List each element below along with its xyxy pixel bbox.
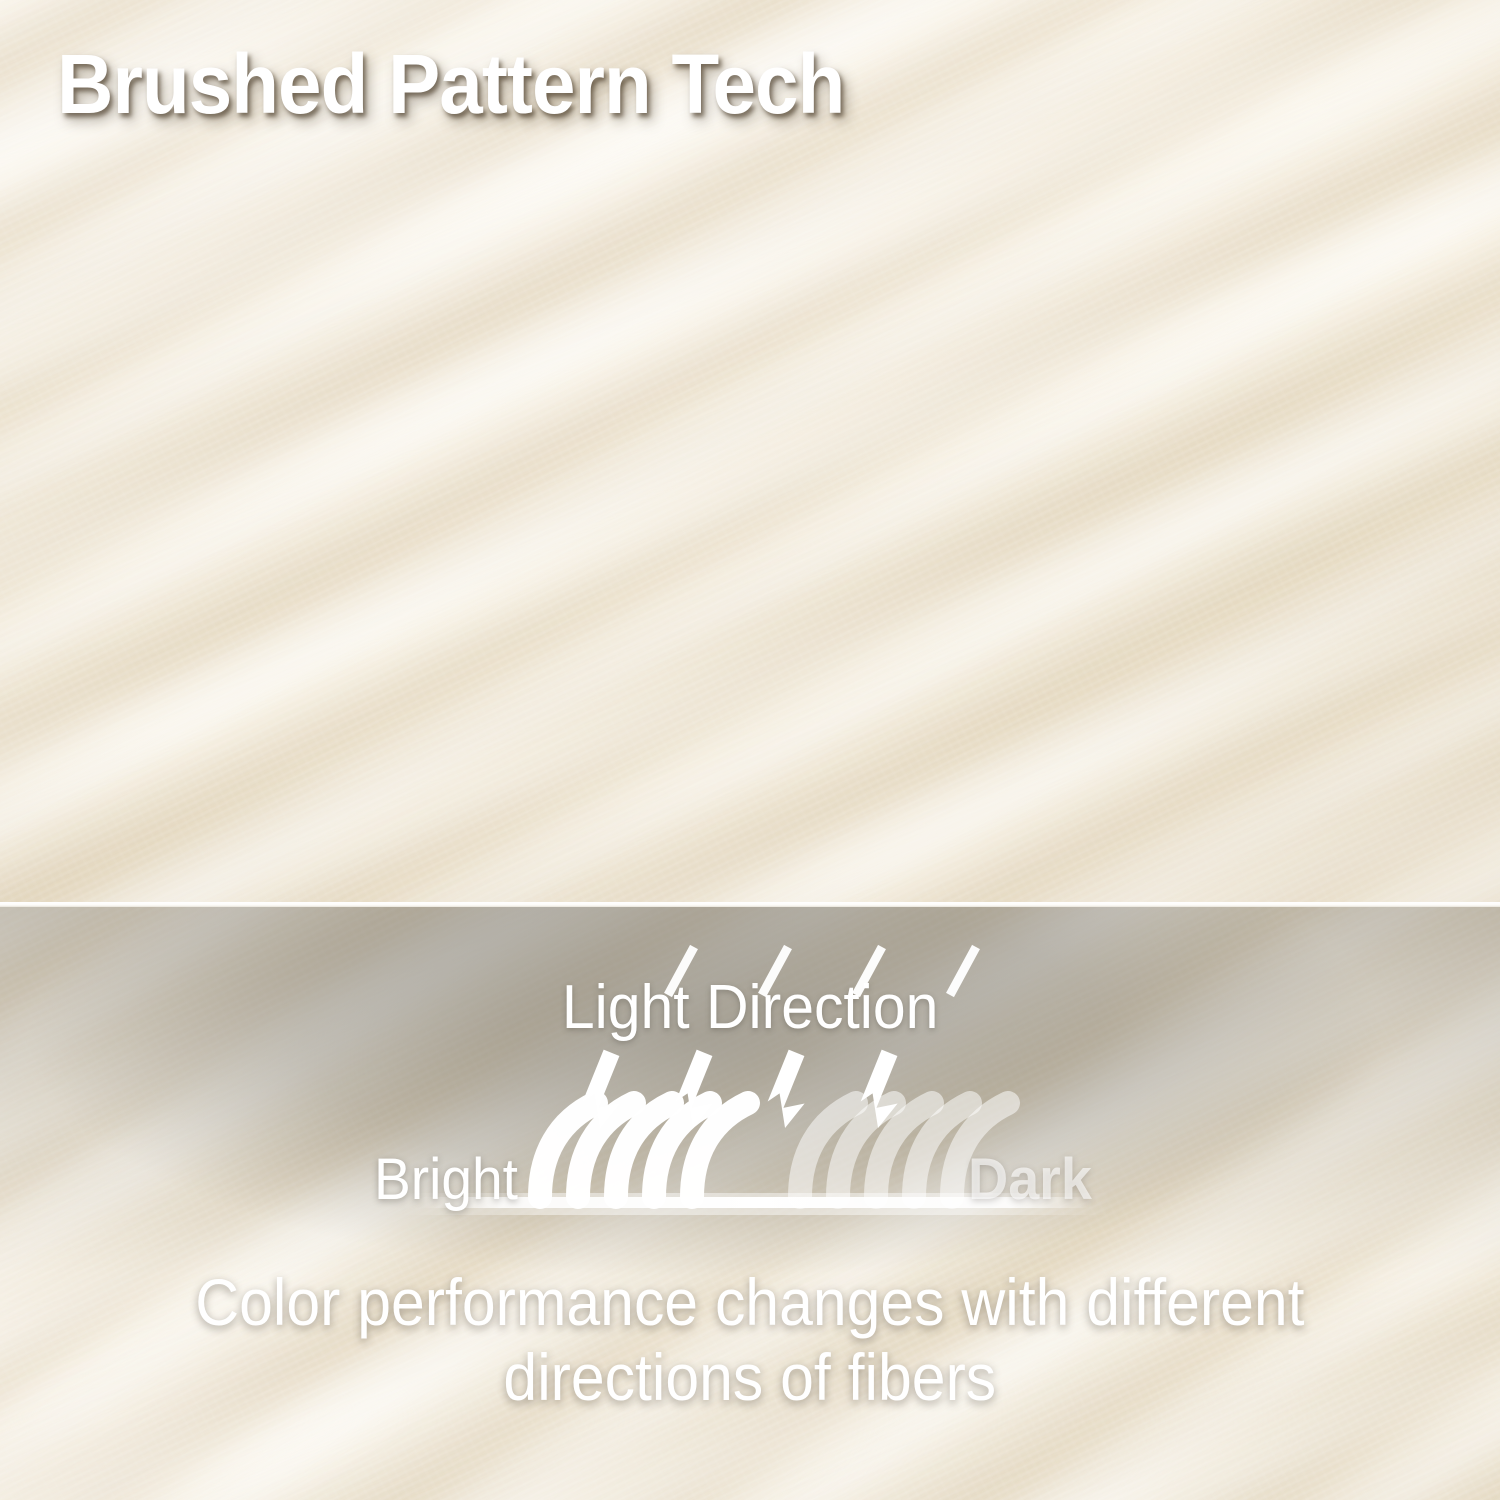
caption-line-2: directions of fibers: [504, 1340, 997, 1415]
light-ray-1: [668, 947, 694, 995]
page-title: Brushed Pattern Tech: [57, 36, 844, 133]
caption-line-1: Color performance changes with different: [195, 1265, 1304, 1340]
bright-label: Bright: [374, 1146, 518, 1213]
product-infographic: Brushed Pattern Tech Light Direction: [0, 0, 1500, 1500]
light-arrow-3: [761, 1050, 821, 1132]
light-ray-3: [856, 947, 882, 995]
light-ray-slashes: [668, 947, 976, 995]
bright-fiber-strands: [540, 1103, 748, 1197]
top-vignette: [0, 0, 1500, 906]
light-ray-4: [950, 947, 976, 995]
top-fabric-photo: Brushed Pattern Tech: [0, 0, 1500, 906]
dark-label: Dark: [968, 1146, 1092, 1213]
caption-block: Color performance changes with different…: [0, 1265, 1500, 1414]
light-ray-2: [762, 947, 788, 995]
